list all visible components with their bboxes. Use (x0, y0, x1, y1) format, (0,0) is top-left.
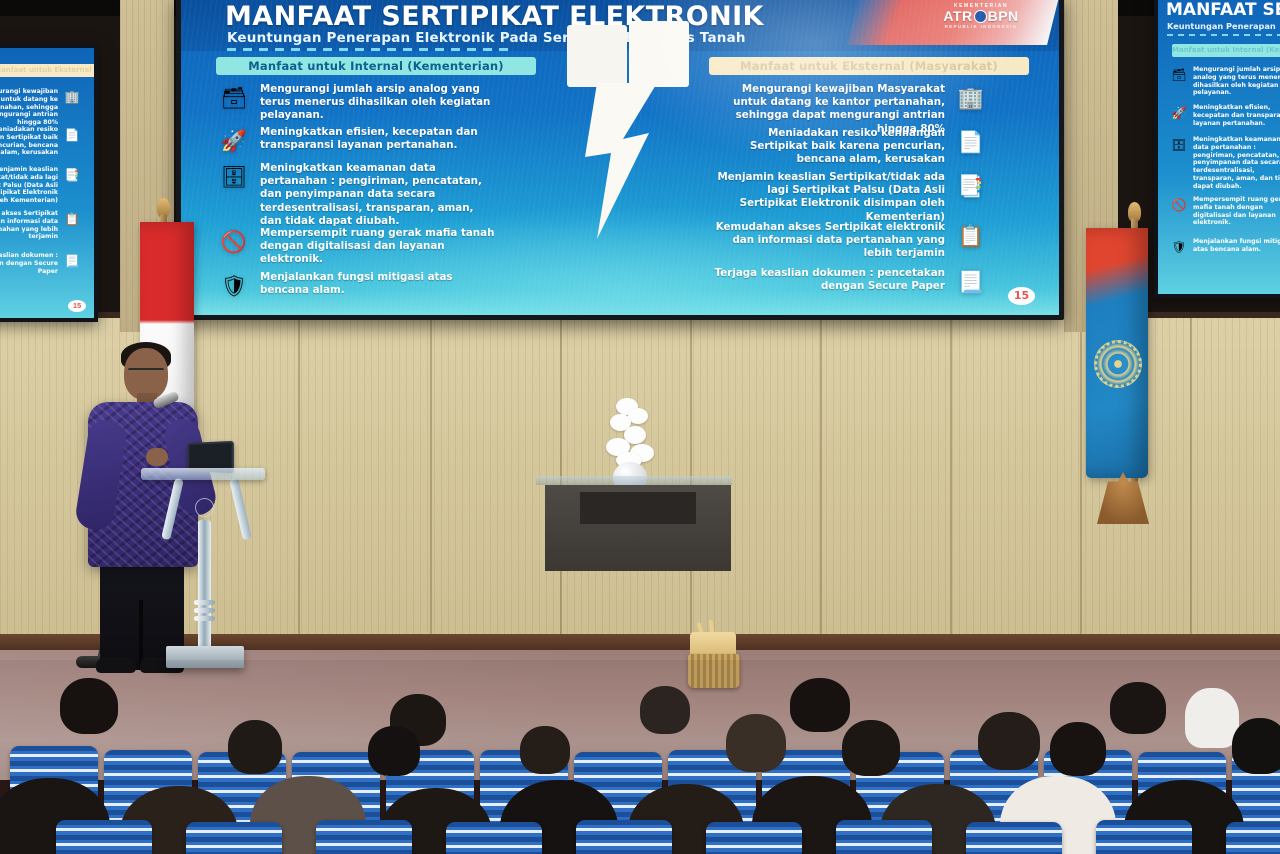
left-column-header: Manfaat untuk Internal (Kementerian) (216, 57, 536, 75)
list-item: 📋 Kemudahan akses Sertipikat elektronik … (709, 221, 988, 261)
list-item-text: Kemudahan akses Sertipikat elektronik da… (709, 221, 945, 261)
white-orchid-arrangement (600, 398, 660, 468)
list-item-text: Menjamin keaslian Sertipikat/tidak ada l… (709, 171, 945, 224)
flag-atr-bpn (1086, 228, 1148, 478)
main-projection-screen: KEMENTERIAN ATRBPN REPUBLIK INDONESIA MA… (176, 0, 1064, 320)
list-item-text: Meniadakan resiko kehilangan Sertipikat … (709, 127, 945, 167)
list-item: Terjaga keaslian dokumen : pencetakan de… (0, 252, 81, 275)
document-safe-icon: 📄 (954, 127, 988, 157)
speaker-hand-left (146, 448, 168, 466)
list-item: Kemudahan akses Sertipikat elektronik da… (0, 210, 81, 241)
list-item: 📄 Meniadakan resiko kehilangan Sertipika… (709, 127, 988, 167)
side-right-title: MANFAAT SERT (1166, 0, 1280, 20)
list-item-text: Meningkatkan efisien, kecepatan dan tran… (1193, 104, 1280, 127)
list-item: 🚀 Meningkatkan efisien, kecepatan dan tr… (217, 126, 496, 156)
podium-post (198, 520, 211, 650)
document-safe-icon: 📄 (63, 126, 81, 143)
verified-doc-icon: 📑 (63, 166, 81, 183)
podium-lectern-top (141, 468, 265, 480)
podium-emblem-icon (195, 498, 214, 517)
database-icon: 🗄 (1170, 136, 1188, 153)
shield-disaster-icon: 🛡 (1170, 238, 1188, 255)
side-left-slide-number: 15 (68, 300, 86, 312)
list-item-text: Menjamin keaslian Sertipikat/tidak ada l… (0, 166, 58, 205)
logo-republik-text: REPUBLIK INDONESIA (925, 24, 1037, 29)
audience-seating (0, 660, 1280, 854)
eyeglasses-icon (128, 368, 164, 376)
side-right-column-header: Manfaat untuk Internal (Kementerian) (1172, 44, 1280, 57)
side-right-subtitle: Keuntungan Penerapan (1167, 21, 1276, 31)
header-dashed-rule (227, 48, 513, 51)
list-item-text: Meningkatkan efisien, kecepatan dan tran… (260, 126, 496, 152)
verified-doc-icon: 📑 (954, 171, 988, 201)
clipboard-access-icon: 📋 (63, 210, 81, 227)
secure-paper-icon: 📃 (63, 252, 81, 269)
list-item-text: Terjaga keaslian dokumen : pencetakan de… (709, 267, 945, 293)
list-item: 🚀 Meningkatkan efisien, kecepatan dan tr… (1170, 104, 1280, 127)
side-left-column-header: Manfaat untuk Eksternal (Masyarakat) (0, 64, 94, 77)
list-item-text: Meningkatkan keamanan data pertanahan : … (1193, 136, 1280, 190)
database-icon: 🗄 (217, 162, 251, 192)
bpn-emblem-icon (1094, 340, 1142, 388)
side-right-dashed-rule (1167, 34, 1280, 36)
rocket-icon: 🚀 (1170, 104, 1188, 121)
list-item-text: Kemudahan akses Sertipikat elektronik da… (0, 210, 58, 241)
secure-paper-icon: 📃 (954, 267, 988, 297)
office-queue-icon: 🏢 (63, 88, 81, 105)
list-item: 🗃 Mengurangi jumlah arsip analog yang te… (1170, 66, 1280, 97)
right-column-header: Manfaat untuk Eksternal (Masyarakat) (709, 57, 1029, 75)
list-item-text: Mempersempit ruang gerak mafia tanah den… (1193, 196, 1280, 227)
archive-boxes-icon: 🗃 (1170, 66, 1188, 83)
console-table-glass-top (536, 476, 732, 485)
list-item-text: Mengurangi jumlah arsip analog yang teru… (260, 83, 496, 123)
list-item: 🗄 Meningkatkan keamanan data pertanahan … (1170, 136, 1280, 190)
console-table-niche (580, 492, 696, 524)
logo-seal-icon (974, 10, 987, 23)
logo-name-text: ATRBPN (925, 9, 1037, 24)
lightning-bolt-certificate-icon (553, 17, 703, 247)
ministry-logo: KEMENTERIAN ATRBPN REPUBLIK INDONESIA (925, 3, 1037, 29)
clipboard-access-icon: 📋 (954, 221, 988, 251)
rocket-icon: 🚀 (217, 126, 251, 156)
list-item: 🗃 Mengurangi jumlah arsip analog yang te… (217, 83, 496, 123)
list-item: 🛡 Menjalankan fungsi mitigasi atas benca… (1170, 238, 1280, 255)
archive-boxes-icon: 🗃 (217, 83, 251, 113)
list-item-text: Menjalankan fungsi mitigasi atas bencana… (260, 271, 496, 297)
side-screen-right: MANFAAT SERT Keuntungan Penerapan Manfaa… (1154, 0, 1280, 298)
list-item-text: Mengurangi jumlah arsip analog yang teru… (1193, 66, 1280, 97)
list-item: 🚫 Mempersempit ruang gerak mafia tanah d… (217, 227, 496, 267)
list-item-text: Terjaga keaslian dokumen : pencetakan de… (0, 252, 58, 275)
side-screen-left: Manfaat untuk Eksternal (Masyarakat) Men… (0, 44, 98, 322)
office-queue-icon: 🏢 (954, 83, 988, 113)
list-item: Meniadakan resiko kehilangan Sertipikat … (0, 126, 81, 157)
list-item: 🛡 Menjalankan fungsi mitigasi atas benca… (217, 271, 496, 301)
list-item-text: Mempersempit ruang gerak mafia tanah den… (260, 227, 496, 267)
list-item: 🚫 Mempersempit ruang gerak mafia tanah d… (1170, 196, 1280, 227)
list-item: Menjamin keaslian Sertipikat/tidak ada l… (0, 166, 81, 205)
list-item-text: Meningkatkan keamanan data pertanahan : … (260, 162, 496, 228)
list-item-text: Mengurangi kewajiban Masyarakat untuk da… (0, 88, 58, 127)
list-item: 🗄 Meningkatkan keamanan data pertanahan … (217, 162, 496, 228)
no-mafia-icon: 🚫 (1170, 196, 1188, 213)
list-item: 📃 Terjaga keaslian dokumen : pencetakan … (709, 267, 988, 297)
list-item-text: Meniadakan resiko kehilangan Sertipikat … (0, 126, 58, 157)
list-item-text: Menjalankan fungsi mitigasi atas bencana… (1193, 238, 1280, 254)
slide-number-badge: 15 (1008, 287, 1035, 305)
no-mafia-icon: 🚫 (217, 227, 251, 257)
auditorium-scene: KEMENTERIAN ATRBPN REPUBLIK INDONESIA MA… (0, 0, 1280, 854)
list-item: Mengurangi kewajiban Masyarakat untuk da… (0, 88, 81, 127)
list-item: 📑 Menjamin keaslian Sertipikat/tidak ada… (709, 171, 988, 224)
shield-disaster-icon: 🛡 (217, 271, 251, 301)
presentation-slide: KEMENTERIAN ATRBPN REPUBLIK INDONESIA MA… (181, 0, 1059, 315)
